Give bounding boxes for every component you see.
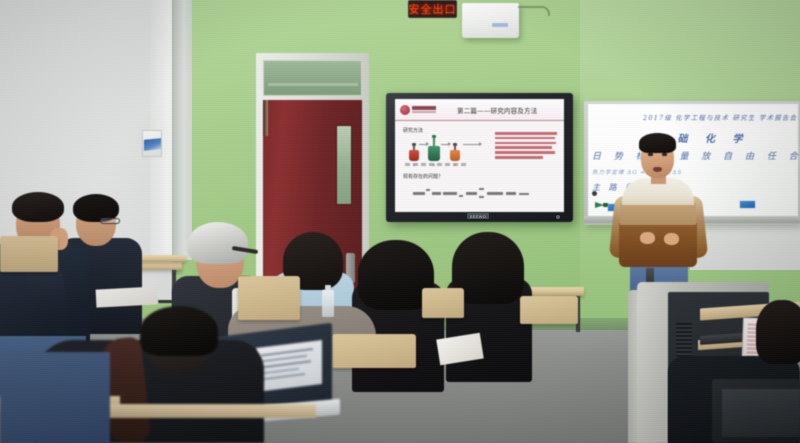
attendee-jeans [0,352,110,443]
classroom-photo: 安全出口 第二篇——研究内容及方法 研究方法 A [0,0,800,443]
attendee-ponytail-front [0,0,800,443]
student-desk [86,404,316,418]
attendee-hair [140,306,218,356]
